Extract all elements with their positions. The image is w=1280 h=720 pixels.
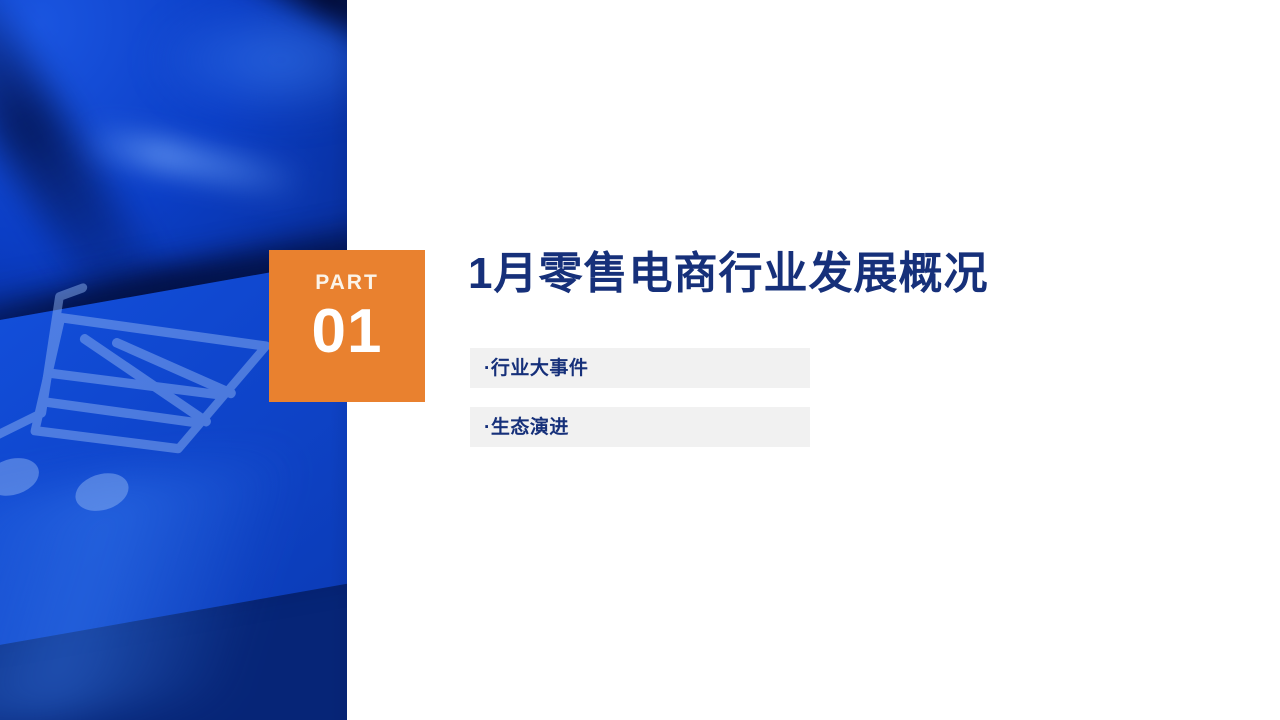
bullet-item-1-label: ·行业大事件 [484,359,588,378]
bullet-item-2[interactable]: ·生态演进 [470,407,810,447]
keyboard-highlight-top [150,0,347,120]
bullet-item-2-label: ·生态演进 [484,418,569,437]
part-label: PART [315,272,379,293]
bullet-list: ·行业大事件 ·生态演进 [470,348,810,447]
section-marker-box: PART 01 [269,250,425,402]
bullet-item-1[interactable]: ·行业大事件 [470,348,810,388]
presentation-slide: PART 01 1月零售电商行业发展概况 ·行业大事件 ·生态演进 [0,0,1280,720]
part-number: 01 [312,299,383,364]
page-title: 1月零售电商行业发展概况 [468,248,988,301]
